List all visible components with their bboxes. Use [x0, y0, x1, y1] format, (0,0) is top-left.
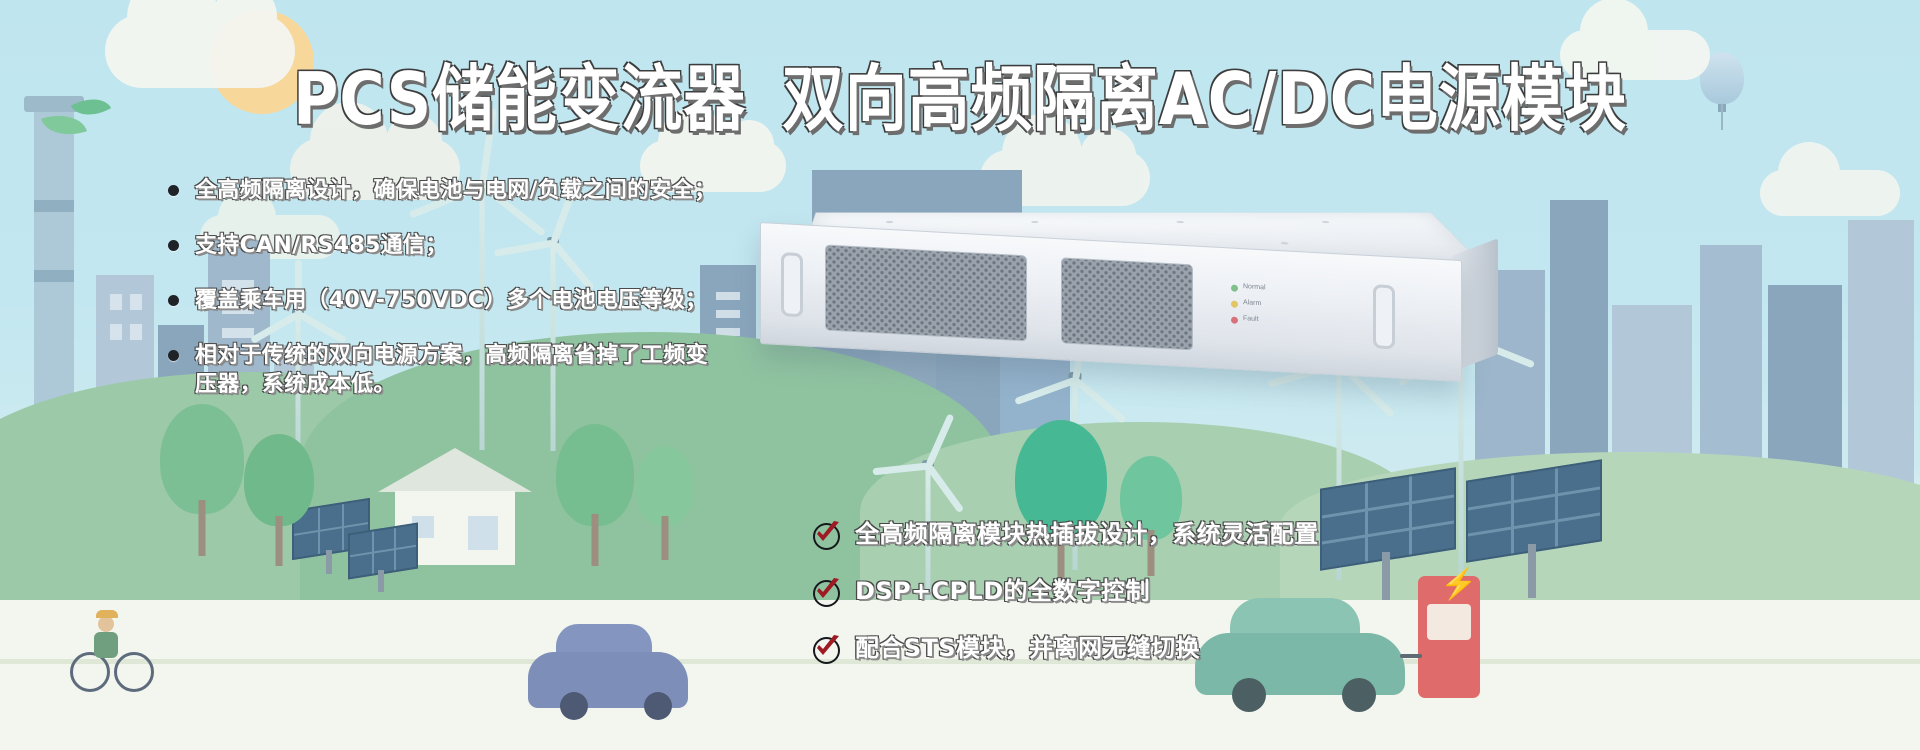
- tree-icon: [556, 424, 634, 564]
- list-item: 全高频隔离模块热插拔设计，系统灵活配置: [812, 519, 1319, 549]
- tree-icon: [160, 404, 244, 554]
- window: [110, 324, 122, 340]
- highlight-text: 配合STS模块，并离网无缝切换: [855, 633, 1200, 663]
- device-handle-right: [1373, 284, 1395, 349]
- car-wheel: [560, 692, 588, 720]
- led-normal-label: Normal: [1243, 283, 1266, 291]
- building: [1550, 200, 1608, 500]
- list-item: 相对于传统的双向电源方案，高频隔离省掉了工频变压器，系统成本低。: [168, 341, 728, 399]
- list-item: 全高频隔离设计，确保电池与电网/负载之间的安全；: [168, 176, 868, 205]
- ev-wheel: [1342, 678, 1376, 712]
- led-fault-indicator: [1231, 316, 1238, 323]
- feature-list: 全高频隔离设计，确保电池与电网/负载之间的安全； 支持CAN/RS485通信； …: [168, 176, 868, 425]
- car-wheel: [644, 692, 672, 720]
- solar-panel-leg: [1528, 544, 1536, 598]
- building: [1700, 245, 1762, 500]
- ventilation-grille: [1061, 257, 1193, 350]
- list-item: DSP+CPLD的全数字控制: [812, 576, 1319, 606]
- highlight-text: DSP+CPLD的全数字控制: [855, 576, 1150, 606]
- list-item: 支持CAN/RS485通信；: [168, 231, 868, 260]
- charger-display: [1427, 604, 1471, 640]
- window: [110, 294, 122, 310]
- promo-banner: ⚡ Normal Alarm Fault PCS储能变流器: [0, 0, 1920, 750]
- bullet-dot-icon: [168, 350, 179, 361]
- ev-charging-station-icon: [1418, 576, 1480, 698]
- window: [130, 294, 142, 310]
- solar-panel-icon: [348, 522, 418, 579]
- leaf-icon: [71, 89, 111, 125]
- title-sub: 双向高频隔离AC/DC电源模块: [782, 57, 1627, 141]
- list-item: 配合STS模块，并离网无缝切换: [812, 633, 1319, 663]
- house-window: [468, 516, 498, 550]
- building: [96, 275, 154, 485]
- led-fault-label: Fault: [1243, 315, 1259, 323]
- house-window: [412, 516, 434, 538]
- chimney-band: [34, 200, 74, 212]
- tree-icon: [244, 434, 314, 564]
- feature-text: 支持CAN/RS485通信；: [195, 231, 448, 260]
- factory-chimney-icon: [34, 105, 74, 435]
- house-roof: [378, 448, 532, 492]
- lightning-bolt-icon: ⚡: [1440, 570, 1477, 600]
- list-item: 覆盖乘车用（40V-750VDC）多个电池电压等级；: [168, 286, 868, 315]
- bullet-dot-icon: [168, 295, 179, 306]
- solar-panel-icon: [1466, 459, 1602, 563]
- charger-cable: [1400, 654, 1422, 658]
- hill: [1280, 452, 1920, 602]
- building: [1612, 305, 1692, 500]
- car-icon: [528, 652, 688, 708]
- title-main: PCS储能变流器: [293, 57, 746, 141]
- solar-panel-leg: [1382, 552, 1390, 602]
- bullet-dot-icon: [168, 240, 179, 251]
- cloud-icon: [1760, 170, 1900, 216]
- car-roof: [556, 624, 652, 658]
- window: [130, 324, 142, 340]
- building: [1768, 285, 1842, 500]
- leaf-icon: [41, 106, 87, 143]
- led-alarm-indicator: [1231, 300, 1238, 307]
- check-circle-icon: [812, 576, 842, 606]
- led-alarm-label: Alarm: [1243, 299, 1261, 307]
- chimney-cap: [24, 96, 84, 112]
- feature-text: 全高频隔离设计，确保电池与电网/负载之间的安全；: [195, 176, 716, 205]
- feature-text: 相对于传统的双向电源方案，高频隔离省掉了工频变压器，系统成本低。: [195, 341, 728, 399]
- solar-panel-leg: [326, 550, 332, 574]
- page-title: PCS储能变流器双向高频隔离AC/DC电源模块: [134, 60, 1785, 138]
- solar-panel-leg: [378, 570, 384, 592]
- tree-icon: [636, 446, 694, 558]
- check-circle-icon: [812, 519, 842, 549]
- building: [1848, 220, 1914, 500]
- check-circle-icon: [812, 633, 842, 663]
- house-icon: [395, 491, 515, 565]
- product-image: Normal Alarm Fault: [760, 155, 1500, 405]
- chimney-band: [34, 270, 74, 282]
- highlight-list: 全高频隔离模块热插拔设计，系统灵活配置 DSP+CPLD的全数字控制 配合STS…: [812, 519, 1319, 690]
- led-normal-indicator: [1231, 284, 1238, 291]
- bullet-dot-icon: [168, 185, 179, 196]
- solar-panel-icon: [1320, 467, 1456, 571]
- highlight-text: 全高频隔离模块热插拔设计，系统灵活配置: [855, 519, 1319, 549]
- solar-panel-icon: [292, 498, 370, 560]
- feature-text: 覆盖乘车用（40V-750VDC）多个电池电压等级；: [195, 286, 707, 315]
